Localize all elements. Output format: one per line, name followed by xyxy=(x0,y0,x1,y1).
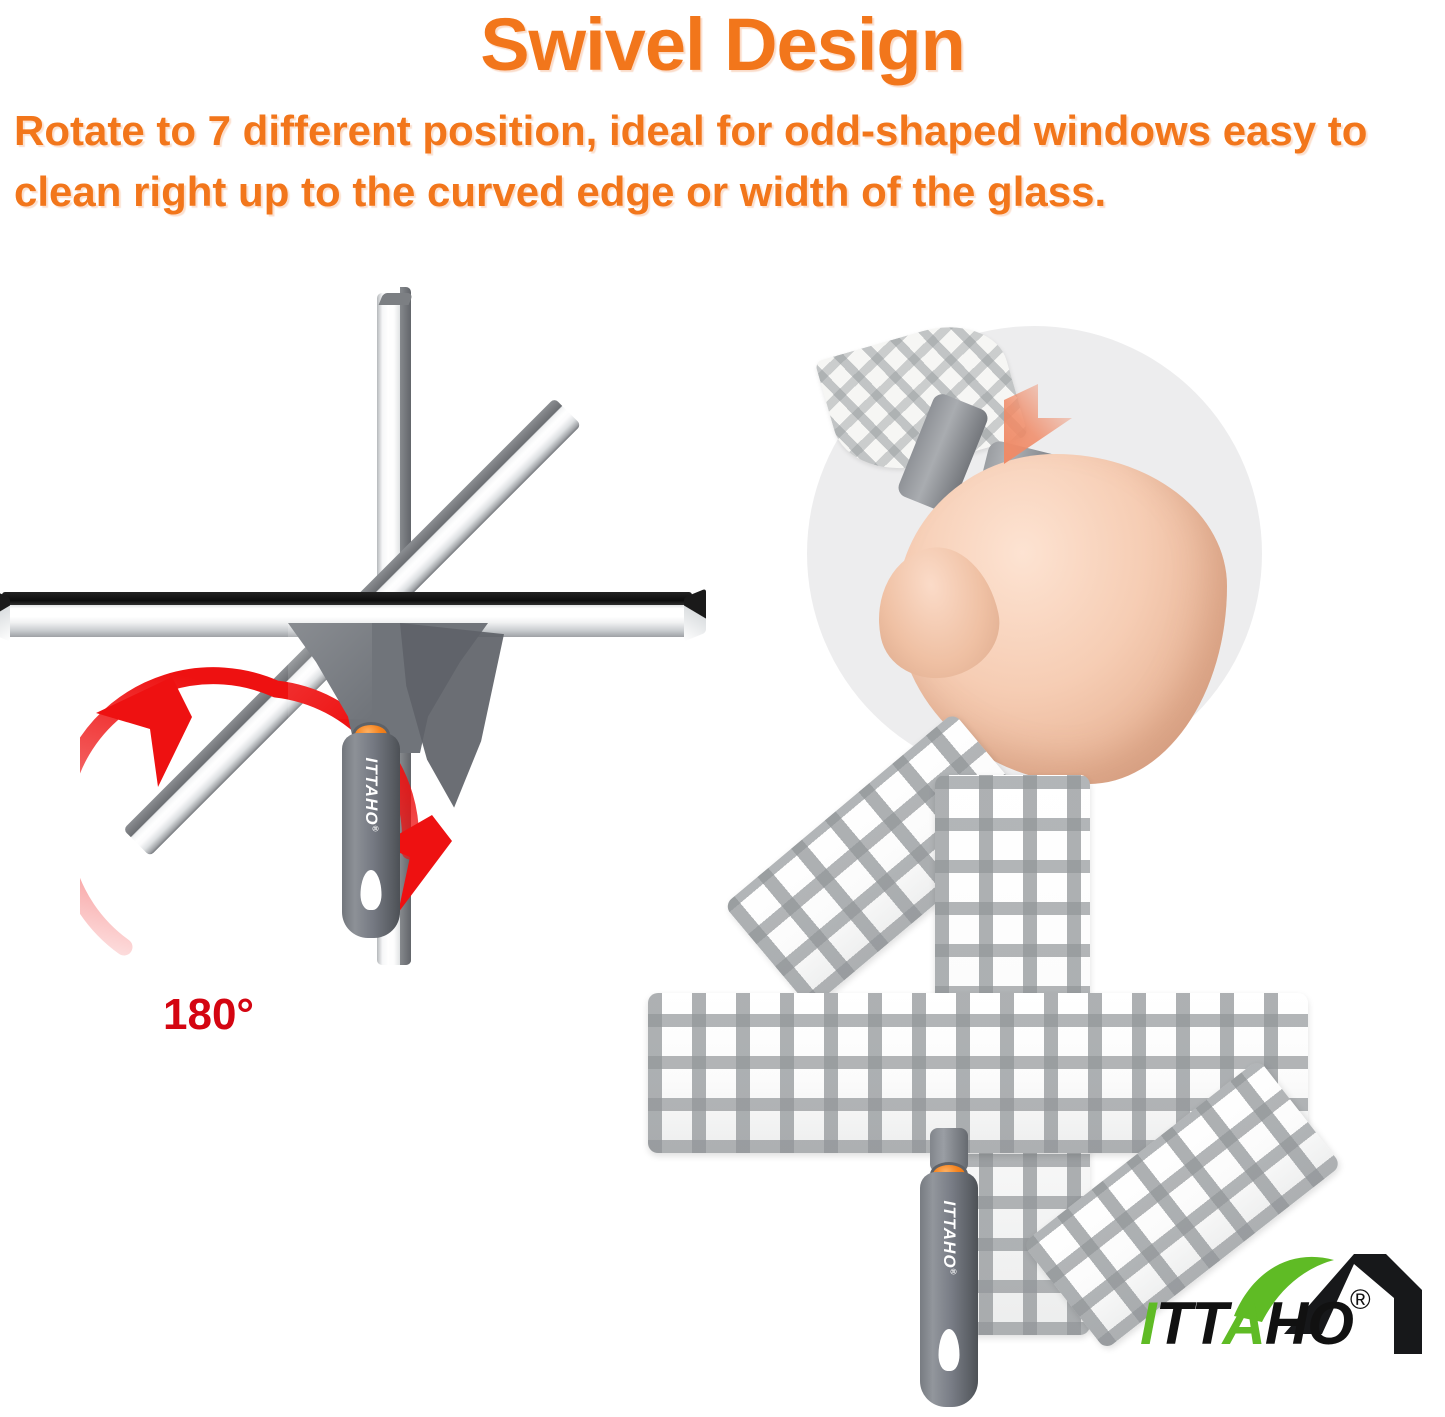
pad-tool-grip-handle: ITTAHO® xyxy=(920,1172,978,1407)
registered-trademark-mark: ® xyxy=(1350,1284,1371,1316)
blade-tip-left xyxy=(0,589,10,642)
page-subtitle: Rotate to 7 different position, ideal fo… xyxy=(14,100,1439,222)
rubber-blade xyxy=(2,592,692,605)
head-highlight xyxy=(288,623,372,719)
channel-cap xyxy=(379,293,414,305)
headline-block: Swivel Design Rotate to 7 different posi… xyxy=(0,0,1445,222)
brand-logo: ITTAHO ® xyxy=(1138,1242,1438,1414)
pointer-arrow-icon xyxy=(992,378,1088,470)
squeegee-grip-handle: ITTAHO® xyxy=(342,733,400,938)
rotation-degree-label: 180° xyxy=(163,990,254,1040)
blade-tip-right xyxy=(684,589,706,642)
hand-holding-tool-inset xyxy=(795,318,1435,788)
handle-brand-label: ITTAHO® xyxy=(939,1201,959,1276)
microfiber-pad-cluster xyxy=(640,755,1360,1315)
handle-hang-hole xyxy=(361,870,382,910)
page-title: Swivel Design xyxy=(0,2,1445,88)
inset-circle-background xyxy=(807,326,1262,781)
handle-hang-hole xyxy=(939,1329,960,1371)
squeegee-rotation-diagram: ITTAHO® 180° xyxy=(0,285,700,990)
brand-wordmark: ITTAHO xyxy=(1140,1294,1353,1354)
handle-brand-label: ITTAHO® xyxy=(361,758,381,833)
